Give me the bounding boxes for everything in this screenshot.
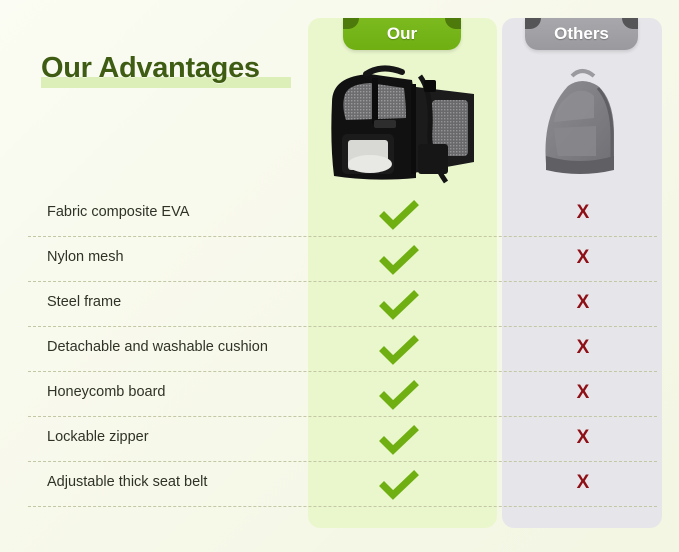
cross-mark-icon: X xyxy=(552,288,614,318)
page-title: Our Advantages xyxy=(41,52,260,92)
feature-label: Fabric composite EVA xyxy=(47,204,189,220)
check-mark-icon xyxy=(368,470,430,500)
table-row: Nylon mesh X xyxy=(0,237,679,282)
ribbon-notch-right-icon xyxy=(445,18,461,29)
feature-label: Adjustable thick seat belt xyxy=(47,474,207,490)
feature-label: Steel frame xyxy=(47,294,121,310)
feature-label: Lockable zipper xyxy=(47,429,149,445)
check-mark-icon xyxy=(368,380,430,410)
check-mark-icon xyxy=(368,200,430,230)
feature-label: Honeycomb board xyxy=(47,384,166,400)
cross-mark-icon: X xyxy=(552,198,614,228)
check-mark-icon xyxy=(368,425,430,455)
ribbon-notch-left-icon xyxy=(343,18,359,29)
comparison-chart: Our Advantages Our Others xyxy=(0,0,679,552)
cross-mark-icon: X xyxy=(552,243,614,273)
table-row: Adjustable thick seat belt X xyxy=(0,462,679,507)
table-row: Fabric composite EVA X xyxy=(0,192,679,237)
row-divider xyxy=(28,506,657,507)
feature-label: Nylon mesh xyxy=(47,249,124,265)
cross-mark-icon: X xyxy=(552,423,614,453)
feature-rows: Fabric composite EVA X Nylon mesh X Stee… xyxy=(0,192,679,507)
table-row: Lockable zipper X xyxy=(0,417,679,462)
table-row: Honeycomb board X xyxy=(0,372,679,417)
column-header-our-label: Our xyxy=(387,24,417,44)
column-header-others: Others xyxy=(525,18,638,50)
product-image-others xyxy=(512,52,654,192)
cross-mark-icon: X xyxy=(552,333,614,363)
table-row: Steel frame X xyxy=(0,282,679,327)
column-header-our: Our xyxy=(343,18,461,50)
cross-mark-icon: X xyxy=(552,378,614,408)
product-image-our xyxy=(312,52,494,192)
feature-label: Detachable and washable cushion xyxy=(47,339,268,355)
check-mark-icon xyxy=(368,290,430,320)
cross-mark-icon: X xyxy=(552,468,614,498)
column-header-others-label: Others xyxy=(554,24,609,44)
table-row: Detachable and washable cushion X xyxy=(0,327,679,372)
ribbon-notch-right-icon xyxy=(622,18,638,29)
title-text: Our Advantages xyxy=(41,52,260,85)
ribbon-notch-left-icon xyxy=(525,18,541,29)
check-mark-icon xyxy=(368,335,430,365)
check-mark-icon xyxy=(368,245,430,275)
